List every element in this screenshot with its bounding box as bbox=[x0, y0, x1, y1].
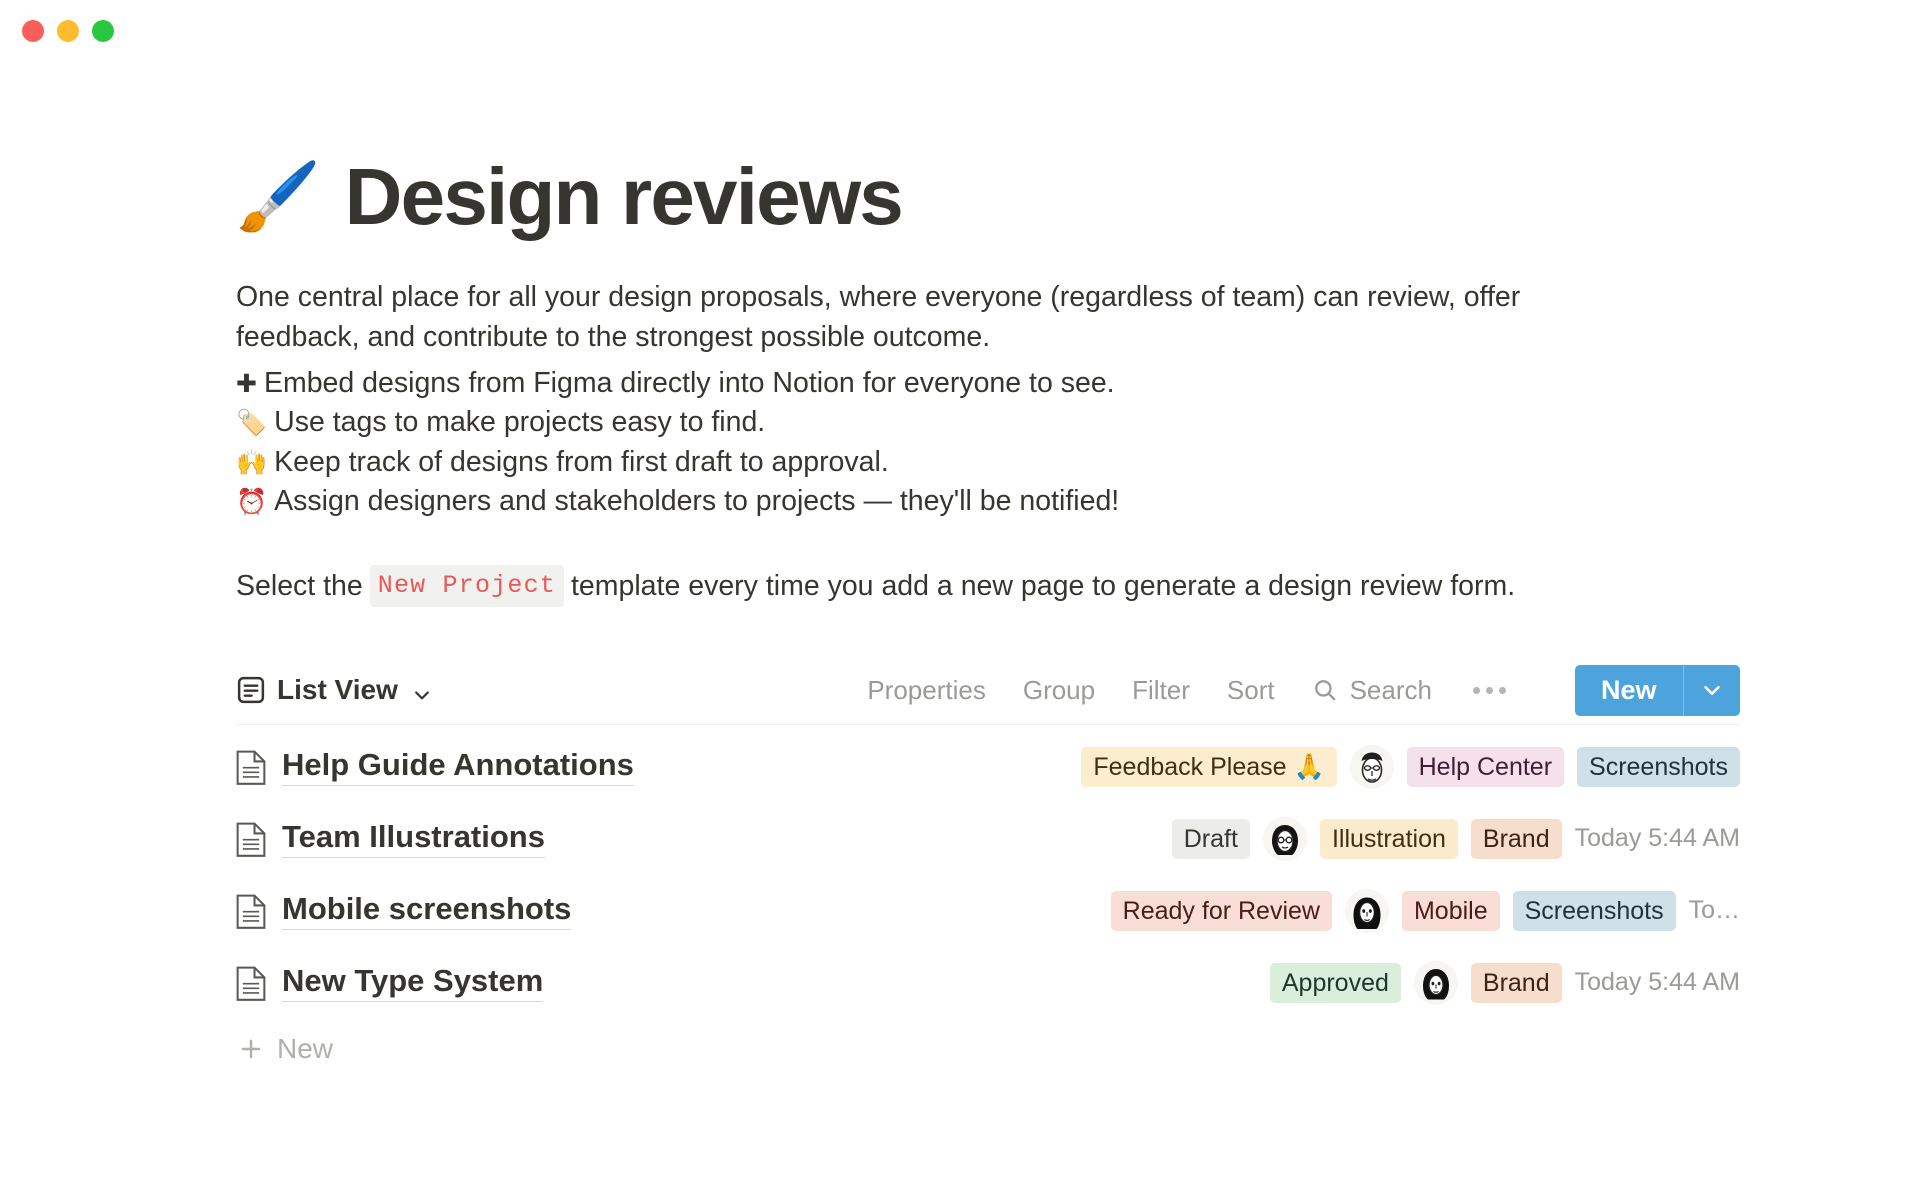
search-button[interactable]: Search bbox=[1312, 675, 1432, 706]
template-note-suffix: template every time you add a new page t… bbox=[571, 566, 1515, 606]
window-titlebar bbox=[0, 0, 1920, 62]
avatar[interactable] bbox=[1414, 961, 1458, 1005]
tag-badge[interactable]: Screenshots bbox=[1513, 891, 1676, 931]
minimize-window-button[interactable] bbox=[57, 20, 79, 42]
page-header: 🖌️ Design reviews bbox=[236, 157, 1740, 237]
plus-icon bbox=[238, 1036, 264, 1062]
table-row[interactable]: Help Guide Annotations Feedback Please 🙏 bbox=[236, 731, 1740, 803]
row-title-group[interactable]: Team Illustrations bbox=[236, 819, 545, 858]
bullet-item-3[interactable]: ⏰ Assign designers and stakeholders to p… bbox=[236, 482, 1740, 521]
properties-button[interactable]: Properties bbox=[867, 675, 986, 706]
list-view-icon bbox=[236, 675, 266, 705]
row-title[interactable]: New Type System bbox=[282, 963, 543, 1002]
alarm-clock-emoji-icon: ⏰ bbox=[236, 490, 267, 515]
document-icon bbox=[236, 966, 266, 1000]
status-badge[interactable]: Approved bbox=[1270, 963, 1401, 1003]
raising-hands-emoji-icon: 🙌 bbox=[236, 451, 267, 476]
close-window-button[interactable] bbox=[22, 20, 44, 42]
paintbrush-icon[interactable]: 🖌️ bbox=[236, 163, 321, 231]
database-toolbar: List View Properties Group Filter Sort bbox=[236, 663, 1740, 725]
add-new-row-button[interactable]: New bbox=[236, 1019, 1740, 1079]
avatar[interactable] bbox=[1263, 817, 1307, 861]
bullet-item-1[interactable]: 🏷️ Use tags to make projects easy to fin… bbox=[236, 403, 1740, 442]
row-title[interactable]: Help Guide Annotations bbox=[282, 747, 634, 786]
plus-emoji-icon: ✚ bbox=[236, 372, 257, 397]
bullet-item-0[interactable]: ✚ Embed designs from Figma directly into… bbox=[236, 364, 1740, 403]
tag-badge[interactable]: Brand bbox=[1471, 819, 1562, 859]
sort-button[interactable]: Sort bbox=[1227, 675, 1275, 706]
maximize-window-button[interactable] bbox=[92, 20, 114, 42]
search-label: Search bbox=[1350, 675, 1432, 706]
page-intro-paragraph[interactable]: One central place for all your design pr… bbox=[236, 277, 1636, 358]
table-row[interactable]: Team Illustrations Draft I bbox=[236, 803, 1740, 875]
timestamp: To… bbox=[1689, 896, 1740, 925]
row-title[interactable]: Team Illustrations bbox=[282, 819, 545, 858]
tag-badge[interactable]: Illustration bbox=[1320, 819, 1458, 859]
bullet-text-0: Embed designs from Figma directly into N… bbox=[264, 364, 1115, 403]
page-content: 🖌️ Design reviews One central place for … bbox=[0, 62, 1920, 1079]
ellipsis-icon[interactable] bbox=[1473, 687, 1506, 694]
tag-badge[interactable]: Brand bbox=[1471, 963, 1562, 1003]
template-note[interactable]: Select the New Project template every ti… bbox=[236, 565, 1740, 607]
toolbar-actions: Properties Group Filter Sort Search New bbox=[867, 665, 1740, 716]
page-title[interactable]: Design reviews bbox=[345, 157, 902, 237]
timestamp: Today 5:44 AM bbox=[1575, 824, 1740, 853]
search-icon bbox=[1312, 677, 1338, 703]
avatar[interactable] bbox=[1350, 745, 1394, 789]
template-note-prefix: Select the bbox=[236, 566, 363, 606]
row-title-group[interactable]: New Type System bbox=[236, 963, 543, 1002]
row-properties: Draft Illustration Brand Today 5 bbox=[1172, 817, 1740, 861]
row-title-group[interactable]: Help Guide Annotations bbox=[236, 747, 634, 786]
content-spacer bbox=[236, 521, 1740, 565]
add-new-row-label: New bbox=[277, 1033, 333, 1065]
status-badge[interactable]: Ready for Review bbox=[1111, 891, 1332, 931]
timestamp: Today 5:44 AM bbox=[1575, 968, 1740, 997]
row-properties: Ready for Review Mobile Screenshots bbox=[1111, 889, 1740, 933]
row-properties: Feedback Please 🙏 Help Center Screensho bbox=[1081, 745, 1740, 789]
row-title-group[interactable]: Mobile screenshots bbox=[236, 891, 571, 930]
database-rows: Help Guide Annotations Feedback Please 🙏 bbox=[236, 731, 1740, 1079]
chevron-down-icon[interactable] bbox=[412, 680, 432, 700]
bullet-text-3: Assign designers and stakeholders to pro… bbox=[274, 482, 1119, 521]
feature-bullet-list: ✚ Embed designs from Figma directly into… bbox=[236, 364, 1740, 521]
bullet-text-2: Keep track of designs from first draft t… bbox=[274, 443, 889, 482]
view-tab-list-view[interactable]: List View bbox=[236, 674, 432, 706]
document-icon bbox=[236, 894, 266, 928]
table-row[interactable]: Mobile screenshots Ready for Review bbox=[236, 875, 1740, 947]
avatar[interactable] bbox=[1345, 889, 1389, 933]
new-project-code-chip[interactable]: New Project bbox=[370, 565, 564, 607]
new-button-dropdown[interactable] bbox=[1684, 665, 1740, 716]
new-item-button-group: New bbox=[1575, 665, 1740, 716]
tag-emoji-icon: 🏷️ bbox=[236, 411, 267, 436]
group-button[interactable]: Group bbox=[1023, 675, 1095, 706]
tag-badge[interactable]: Mobile bbox=[1402, 891, 1500, 931]
status-badge[interactable]: Draft bbox=[1172, 819, 1250, 859]
tag-badge[interactable]: Help Center bbox=[1407, 747, 1564, 787]
tag-badge[interactable]: Screenshots bbox=[1577, 747, 1740, 787]
new-button[interactable]: New bbox=[1575, 665, 1683, 716]
document-icon bbox=[236, 750, 266, 784]
table-row[interactable]: New Type System Approved B bbox=[236, 947, 1740, 1019]
filter-button[interactable]: Filter bbox=[1132, 675, 1190, 706]
row-properties: Approved Brand Today 5:44 AM bbox=[1270, 961, 1740, 1005]
status-badge[interactable]: Feedback Please 🙏 bbox=[1081, 747, 1336, 787]
bullet-item-2[interactable]: 🙌 Keep track of designs from first draft… bbox=[236, 443, 1740, 482]
bullet-text-1: Use tags to make projects easy to find. bbox=[274, 403, 765, 442]
document-icon bbox=[236, 822, 266, 856]
view-tab-label: List View bbox=[277, 674, 398, 706]
row-title[interactable]: Mobile screenshots bbox=[282, 891, 571, 930]
